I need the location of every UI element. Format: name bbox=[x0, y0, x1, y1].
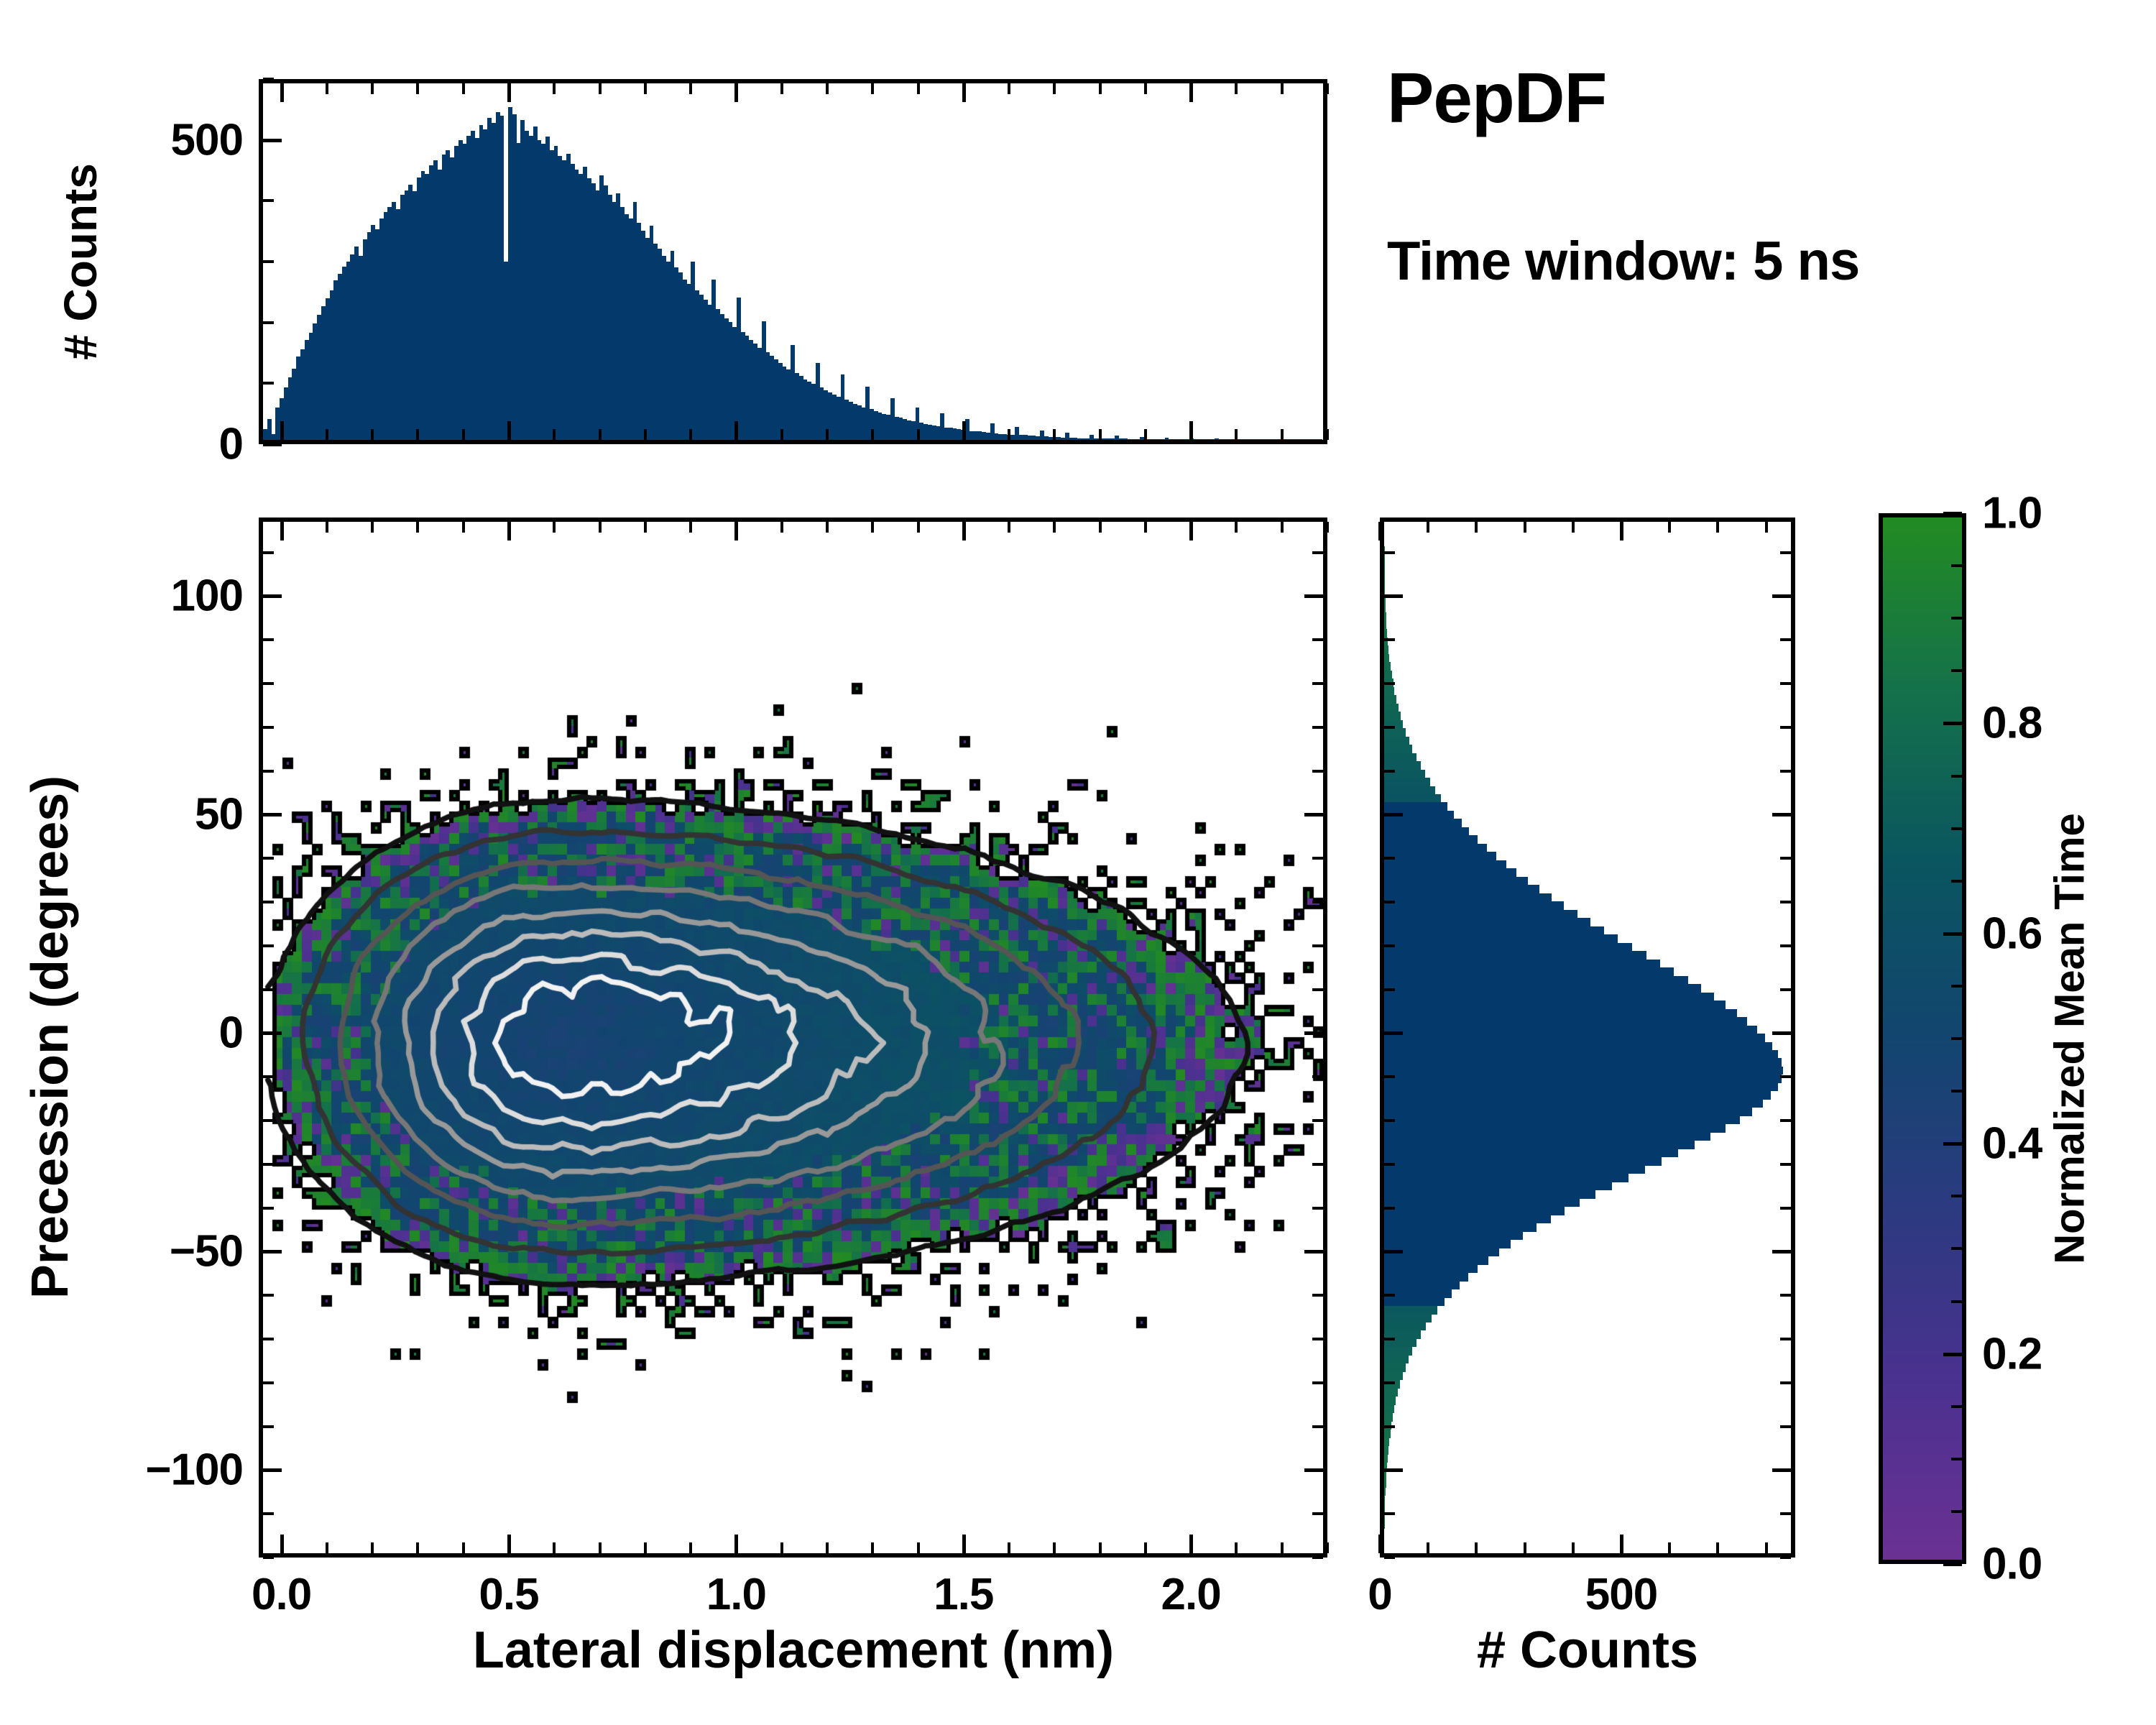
axis-tick bbox=[689, 522, 692, 533]
histogram-bar bbox=[1384, 786, 1435, 794]
histogram-bar bbox=[1384, 1256, 1488, 1264]
histogram-bar bbox=[1384, 579, 1385, 587]
histogram-bar bbox=[1384, 984, 1701, 992]
histogram-bar bbox=[1384, 835, 1478, 843]
axis-tick bbox=[1951, 1300, 1962, 1303]
axis-tick bbox=[1668, 1542, 1671, 1553]
histogram-bar bbox=[1384, 1356, 1409, 1363]
axis-tick bbox=[1780, 1119, 1791, 1122]
axis-tick bbox=[1099, 83, 1102, 94]
histogram-bar bbox=[1384, 852, 1496, 860]
axis-tick bbox=[462, 522, 465, 533]
histogram-bar bbox=[1384, 918, 1590, 926]
axis-tick-label: 100 bbox=[171, 571, 243, 622]
histogram-bar bbox=[1384, 654, 1389, 662]
histogram-bar bbox=[1384, 943, 1632, 951]
axis-tick bbox=[1312, 1381, 1323, 1384]
histogram-bar bbox=[1384, 1471, 1386, 1479]
axis-tick bbox=[1312, 638, 1323, 641]
histogram-bar bbox=[1384, 827, 1469, 835]
axis-tick bbox=[780, 429, 783, 440]
axis-tick bbox=[826, 83, 829, 94]
histogram-bar bbox=[1384, 563, 1385, 571]
histogram-bar bbox=[1384, 1157, 1662, 1165]
axis-tick bbox=[1312, 1163, 1323, 1166]
axis-tick bbox=[1780, 770, 1791, 773]
axis-tick bbox=[371, 522, 374, 533]
axis-tick bbox=[1384, 1294, 1395, 1297]
histogram-bar bbox=[1384, 1363, 1406, 1371]
axis-tick bbox=[1312, 770, 1323, 773]
histogram-bar bbox=[1384, 1240, 1511, 1248]
axis-tick bbox=[1716, 1542, 1719, 1553]
histogram-bar bbox=[1384, 1108, 1752, 1115]
axis-tick bbox=[1780, 1556, 1791, 1559]
axis-tick bbox=[1716, 522, 1719, 533]
axis-tick bbox=[1326, 522, 1329, 533]
axis-tick bbox=[1943, 512, 1962, 515]
histogram-bar bbox=[1384, 1306, 1437, 1314]
axis-tick-label: 1.5 bbox=[934, 1569, 993, 1620]
axis-tick bbox=[1384, 1250, 1403, 1253]
axis-tick bbox=[263, 443, 282, 446]
histogram-bar bbox=[1384, 1149, 1678, 1157]
histogram-bar bbox=[1384, 844, 1487, 852]
axis-tick bbox=[1772, 1250, 1791, 1253]
axis-tick bbox=[263, 1294, 274, 1297]
histogram-bar bbox=[1384, 1174, 1628, 1182]
axis-tick bbox=[1099, 1542, 1102, 1553]
colorbar-label: Normalized Mean Time bbox=[2046, 813, 2094, 1264]
histogram-bar bbox=[1384, 778, 1430, 786]
axis-tick bbox=[962, 522, 966, 540]
axis-tick bbox=[1384, 1075, 1395, 1078]
axis-tick bbox=[1620, 1535, 1623, 1553]
axis-tick bbox=[263, 139, 282, 142]
histogram-bar bbox=[1384, 1223, 1537, 1231]
axis-tick bbox=[326, 522, 328, 533]
axis-tick bbox=[1951, 1510, 1962, 1513]
histogram-bar bbox=[1384, 1075, 1782, 1082]
histogram-bar bbox=[1384, 802, 1447, 810]
axis-tick-label: 0.2 bbox=[1982, 1328, 2042, 1379]
histogram-bar bbox=[1384, 1133, 1710, 1141]
axis-tick bbox=[553, 522, 556, 533]
axis-tick bbox=[780, 1542, 783, 1553]
histogram-bar bbox=[1384, 951, 1646, 959]
axis-tick-label: 0.6 bbox=[1982, 908, 2042, 959]
axis-tick bbox=[871, 83, 874, 94]
axis-tick bbox=[599, 83, 602, 94]
axis-tick bbox=[1384, 1119, 1395, 1122]
axis-tick bbox=[1780, 1207, 1791, 1210]
histogram-bar bbox=[1384, 1298, 1445, 1306]
histogram-bar bbox=[1384, 671, 1392, 678]
axis-tick bbox=[1235, 429, 1238, 440]
axis-tick bbox=[1780, 638, 1791, 641]
axis-tick bbox=[263, 260, 274, 263]
axis-tick bbox=[416, 83, 419, 94]
axis-tick bbox=[1008, 83, 1010, 94]
axis-tick bbox=[871, 429, 874, 440]
axis-tick bbox=[1312, 1119, 1323, 1122]
histogram-bar bbox=[1384, 1347, 1412, 1355]
top-histogram-bars bbox=[263, 83, 1323, 440]
axis-tick bbox=[780, 522, 783, 533]
histogram-bar bbox=[1384, 1405, 1394, 1413]
axis-tick bbox=[263, 1119, 274, 1122]
axis-tick bbox=[263, 1031, 282, 1035]
axis-tick bbox=[1943, 1563, 1962, 1566]
histogram-bar bbox=[1384, 1315, 1432, 1322]
axis-tick bbox=[263, 726, 274, 729]
histogram-bar bbox=[1384, 1190, 1595, 1198]
axis-tick bbox=[1312, 551, 1323, 554]
axis-tick bbox=[1475, 1542, 1478, 1553]
histogram-bar bbox=[1384, 860, 1506, 868]
axis-tick bbox=[1304, 1031, 1323, 1035]
histogram-bar bbox=[1384, 877, 1528, 885]
axis-tick bbox=[1384, 726, 1395, 729]
axis-tick bbox=[326, 1542, 328, 1553]
axis-tick bbox=[263, 1512, 274, 1515]
axis-tick bbox=[1524, 522, 1526, 533]
axis-tick bbox=[1235, 522, 1238, 533]
axis-tick bbox=[280, 421, 284, 440]
axis-tick bbox=[1772, 813, 1791, 816]
main-x-axis-label: Lateral displacement (nm) bbox=[473, 1621, 1114, 1680]
histogram-bar bbox=[1384, 893, 1552, 901]
axis-tick bbox=[1943, 1353, 1962, 1356]
axis-tick bbox=[1384, 944, 1395, 947]
histogram-bar bbox=[1384, 629, 1387, 637]
histogram-bar bbox=[1384, 1124, 1726, 1132]
histogram-bar bbox=[1384, 1207, 1565, 1215]
axis-tick bbox=[1951, 775, 1962, 778]
histogram-bar bbox=[1384, 1000, 1726, 1008]
axis-tick bbox=[416, 522, 419, 533]
axis-tick bbox=[507, 1535, 511, 1553]
histogram-bar bbox=[1384, 753, 1416, 761]
axis-tick bbox=[1951, 669, 1962, 672]
histogram-bar bbox=[1384, 555, 1385, 563]
histogram-bar bbox=[1384, 967, 1674, 975]
histogram-bar bbox=[1384, 1100, 1763, 1108]
axis-tick bbox=[1326, 83, 1329, 94]
axis-tick bbox=[1053, 429, 1056, 440]
axis-tick bbox=[1780, 944, 1791, 947]
axis-tick bbox=[871, 522, 874, 533]
axis-tick bbox=[1620, 522, 1623, 540]
axis-tick bbox=[1312, 682, 1323, 685]
histogram-bar bbox=[1384, 794, 1441, 802]
histogram-bar bbox=[1384, 1488, 1386, 1496]
axis-tick bbox=[1951, 827, 1962, 830]
axis-tick bbox=[263, 813, 282, 816]
histogram-bar bbox=[1384, 1397, 1396, 1404]
axis-tick bbox=[507, 421, 511, 440]
axis-tick bbox=[1524, 1542, 1526, 1553]
histogram-bar bbox=[1384, 1479, 1386, 1487]
axis-tick bbox=[416, 1542, 419, 1553]
histogram-bar bbox=[1384, 571, 1385, 579]
histogram-bar bbox=[1384, 1455, 1388, 1463]
axis-tick-label: 1.0 bbox=[706, 1569, 766, 1620]
axis-tick bbox=[1384, 1512, 1395, 1515]
axis-tick bbox=[1572, 522, 1575, 533]
histogram-bar bbox=[1384, 993, 1714, 1000]
axis-tick bbox=[1384, 988, 1395, 991]
histogram-bar bbox=[1384, 1182, 1612, 1190]
axis-tick-label: 0.0 bbox=[1982, 1539, 2042, 1590]
histogram-bar bbox=[1384, 704, 1399, 712]
axis-tick bbox=[962, 83, 966, 102]
axis-tick bbox=[1384, 770, 1395, 773]
axis-tick bbox=[871, 1542, 874, 1553]
axis-tick bbox=[1281, 83, 1284, 94]
histogram-bar bbox=[1384, 926, 1604, 934]
axis-tick bbox=[734, 83, 738, 102]
axis-tick bbox=[371, 1542, 374, 1553]
histogram-bar bbox=[1384, 695, 1396, 703]
axis-tick bbox=[1384, 1425, 1395, 1428]
axis-tick-label: 2.0 bbox=[1161, 1569, 1221, 1620]
axis-tick bbox=[917, 429, 920, 440]
axis-tick bbox=[1384, 594, 1403, 598]
plot-title-annotation: PepDF bbox=[1387, 57, 1606, 139]
axis-tick bbox=[1943, 932, 1962, 936]
axis-tick bbox=[826, 429, 829, 440]
axis-tick bbox=[1951, 1247, 1962, 1250]
histogram-bar bbox=[1384, 1389, 1398, 1397]
axis-tick bbox=[1427, 522, 1429, 533]
joint-heatmap-canvas bbox=[263, 522, 1323, 1553]
axis-tick-label: 500 bbox=[1585, 1569, 1657, 1620]
axis-tick bbox=[1780, 1381, 1791, 1384]
axis-tick-label: 50 bbox=[195, 789, 243, 840]
axis-tick bbox=[371, 429, 374, 440]
axis-tick bbox=[1312, 1294, 1323, 1297]
histogram-bar bbox=[1384, 745, 1412, 753]
axis-tick bbox=[1144, 429, 1147, 440]
axis-tick bbox=[1951, 880, 1962, 883]
axis-tick bbox=[1951, 985, 1962, 988]
histogram-bar bbox=[1384, 1322, 1426, 1330]
axis-tick bbox=[263, 944, 274, 947]
axis-tick bbox=[1144, 83, 1147, 94]
histogram-bar bbox=[1384, 1496, 1385, 1504]
histogram-bar bbox=[1384, 1273, 1468, 1281]
axis-tick bbox=[263, 1425, 274, 1428]
axis-tick bbox=[1189, 522, 1193, 540]
axis-tick-label: 0.0 bbox=[252, 1569, 311, 1620]
axis-tick bbox=[1384, 1031, 1403, 1035]
axis-tick bbox=[416, 429, 419, 440]
top-marginal-histogram-panel bbox=[259, 79, 1327, 444]
axis-tick bbox=[1384, 1163, 1395, 1166]
axis-tick bbox=[263, 638, 274, 641]
axis-tick bbox=[1765, 1542, 1768, 1553]
axis-tick bbox=[1780, 726, 1791, 729]
axis-tick bbox=[1943, 1142, 1962, 1146]
histogram-bar bbox=[1384, 1017, 1747, 1025]
histogram-bar bbox=[1384, 1446, 1388, 1454]
histogram-bar bbox=[1384, 1026, 1757, 1034]
axis-tick bbox=[1780, 1294, 1791, 1297]
axis-tick bbox=[599, 1542, 602, 1553]
axis-tick bbox=[326, 429, 328, 440]
axis-tick bbox=[462, 83, 465, 94]
axis-tick bbox=[780, 83, 783, 94]
histogram-bar bbox=[1384, 976, 1688, 984]
axis-tick bbox=[644, 1542, 647, 1553]
main-y-axis-label: Precession (degrees) bbox=[21, 776, 80, 1299]
axis-tick bbox=[1951, 1405, 1962, 1408]
histogram-bar bbox=[1384, 712, 1401, 719]
axis-tick bbox=[263, 1075, 274, 1078]
axis-tick-label: 0 bbox=[219, 419, 243, 470]
axis-tick bbox=[1312, 1338, 1323, 1340]
histogram-bar bbox=[1384, 1215, 1551, 1223]
histogram-bar bbox=[1384, 1232, 1523, 1240]
axis-tick bbox=[1312, 1425, 1323, 1428]
axis-tick bbox=[689, 1542, 692, 1553]
axis-tick bbox=[917, 83, 920, 94]
axis-tick bbox=[1144, 522, 1147, 533]
histogram-bar bbox=[1384, 1372, 1403, 1380]
axis-tick bbox=[1772, 594, 1791, 598]
axis-tick bbox=[1312, 1556, 1323, 1559]
axis-tick bbox=[1951, 617, 1962, 620]
axis-tick-label: −100 bbox=[145, 1445, 243, 1496]
histogram-bar bbox=[1384, 737, 1409, 745]
axis-tick bbox=[1384, 682, 1395, 685]
main-joint-heatmap-panel bbox=[259, 517, 1327, 1558]
axis-tick bbox=[1951, 1090, 1962, 1092]
axis-tick bbox=[1772, 1468, 1791, 1472]
histogram-bar bbox=[1384, 1141, 1695, 1149]
axis-tick bbox=[1235, 1542, 1238, 1553]
histogram-bar bbox=[1384, 1413, 1393, 1421]
axis-tick bbox=[1281, 429, 1284, 440]
histogram-bar bbox=[1384, 728, 1406, 736]
histogram-bar bbox=[1384, 1083, 1778, 1091]
axis-tick bbox=[644, 522, 647, 533]
right-histogram-bars bbox=[1384, 522, 1791, 1553]
axis-tick-label: 0.8 bbox=[1982, 698, 2042, 749]
histogram-bar bbox=[1384, 1265, 1478, 1273]
axis-tick bbox=[1780, 901, 1791, 903]
axis-tick bbox=[1099, 522, 1102, 533]
axis-tick bbox=[1951, 1037, 1962, 1040]
axis-tick bbox=[1304, 594, 1323, 598]
histogram-bar bbox=[1384, 1067, 1783, 1075]
histogram-bar bbox=[1384, 960, 1660, 967]
histogram-bar bbox=[1384, 662, 1391, 670]
axis-tick bbox=[917, 522, 920, 533]
axis-tick bbox=[1304, 1468, 1323, 1472]
right-marginal-histogram-panel bbox=[1380, 517, 1795, 1558]
axis-tick bbox=[1772, 1031, 1791, 1035]
axis-tick bbox=[263, 857, 274, 860]
histogram-bar bbox=[1384, 1430, 1391, 1437]
axis-tick bbox=[689, 83, 692, 94]
axis-tick bbox=[826, 1542, 829, 1553]
axis-tick bbox=[1384, 1468, 1403, 1472]
histogram-bar bbox=[1384, 1438, 1389, 1446]
histogram-bar bbox=[1384, 1034, 1765, 1041]
time-window-annotation: Time window: 5 ns bbox=[1387, 230, 1859, 293]
axis-tick bbox=[1780, 1512, 1791, 1515]
axis-tick bbox=[326, 83, 328, 94]
axis-tick bbox=[280, 522, 284, 540]
axis-tick-label: −50 bbox=[170, 1226, 243, 1277]
axis-tick bbox=[1008, 522, 1010, 533]
axis-tick bbox=[1780, 1338, 1791, 1340]
axis-tick bbox=[263, 321, 274, 324]
histogram-bar bbox=[1384, 604, 1386, 612]
axis-tick-label: 0.4 bbox=[1982, 1118, 2042, 1169]
right-panel-x-axis-label: # Counts bbox=[1477, 1621, 1698, 1680]
axis-tick bbox=[734, 421, 738, 440]
axis-tick bbox=[644, 83, 647, 94]
axis-tick bbox=[1475, 522, 1478, 533]
axis-tick bbox=[1189, 83, 1193, 102]
top-panel-y-axis-label: # Counts bbox=[54, 163, 107, 360]
axis-tick-label: 0 bbox=[1368, 1569, 1391, 1620]
axis-tick bbox=[263, 770, 274, 773]
axis-tick bbox=[1144, 1542, 1147, 1553]
axis-tick bbox=[1053, 522, 1056, 533]
histogram-bar bbox=[1384, 1058, 1782, 1066]
axis-tick bbox=[263, 1338, 274, 1340]
axis-tick bbox=[263, 1250, 282, 1253]
axis-tick bbox=[263, 1556, 274, 1559]
axis-tick bbox=[462, 429, 465, 440]
axis-tick bbox=[1008, 1542, 1010, 1553]
axis-tick bbox=[1384, 1556, 1395, 1559]
axis-tick bbox=[263, 1207, 274, 1210]
axis-tick bbox=[1780, 988, 1791, 991]
histogram-bar bbox=[1384, 1521, 1385, 1529]
axis-tick bbox=[263, 1468, 282, 1472]
axis-tick bbox=[1384, 1338, 1395, 1340]
axis-tick bbox=[1384, 813, 1403, 816]
axis-tick bbox=[1312, 1075, 1323, 1078]
axis-tick bbox=[1312, 944, 1323, 947]
axis-tick bbox=[1312, 857, 1323, 860]
axis-tick bbox=[1951, 1195, 1962, 1197]
axis-tick bbox=[1572, 1542, 1575, 1553]
axis-tick bbox=[507, 522, 511, 540]
axis-tick bbox=[263, 1381, 274, 1384]
axis-tick bbox=[1384, 551, 1395, 554]
axis-tick-label: 0 bbox=[219, 1008, 243, 1059]
axis-tick bbox=[1189, 1535, 1193, 1553]
histogram-bar bbox=[1384, 1050, 1778, 1058]
axis-tick bbox=[280, 1535, 284, 1553]
axis-tick bbox=[1384, 1381, 1395, 1384]
histogram-bar bbox=[1384, 819, 1462, 827]
axis-tick bbox=[1427, 1542, 1429, 1553]
axis-tick bbox=[1780, 857, 1791, 860]
histogram-bar bbox=[1384, 934, 1618, 942]
axis-tick bbox=[1384, 857, 1395, 860]
axis-tick bbox=[263, 382, 274, 385]
axis-tick bbox=[280, 83, 284, 102]
histogram-bar bbox=[1384, 1199, 1580, 1207]
axis-tick bbox=[1235, 83, 1238, 94]
